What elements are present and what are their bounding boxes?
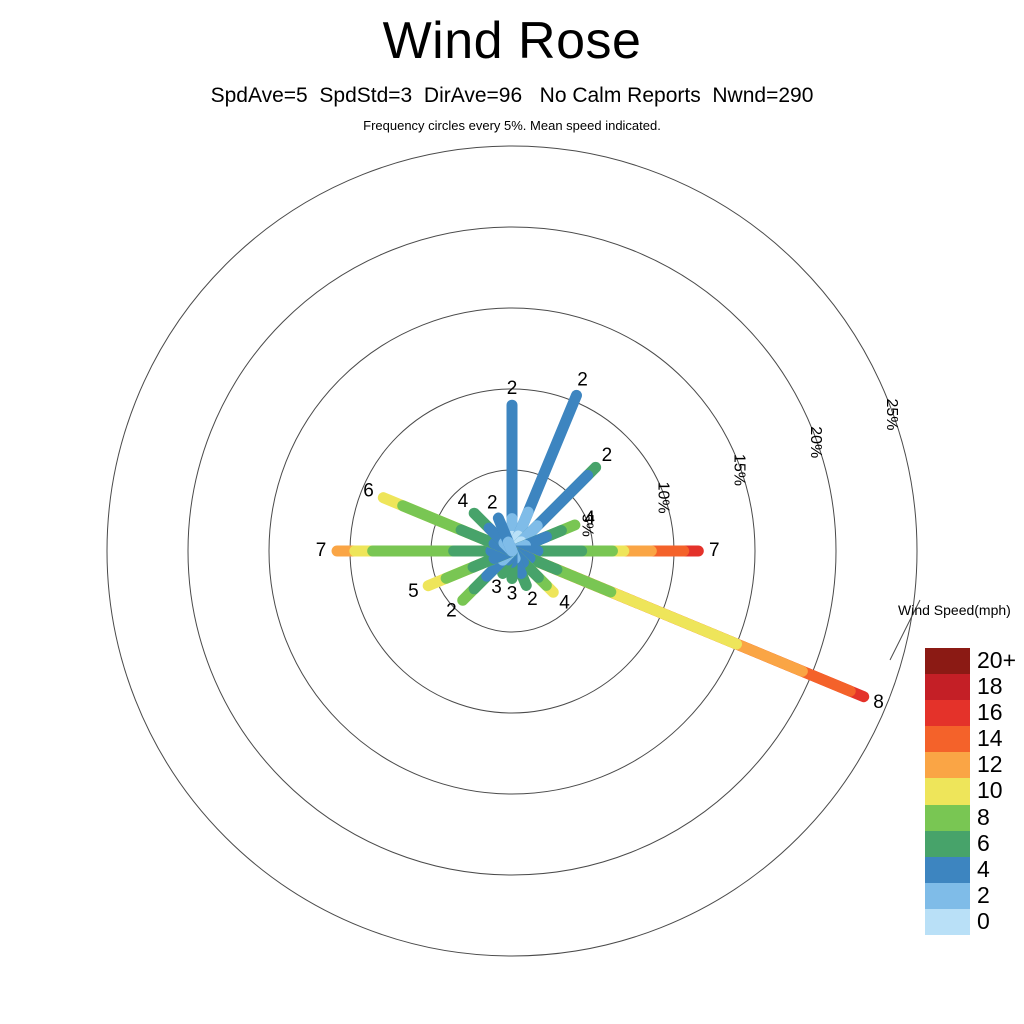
petal-mean-speed-label: 4 bbox=[584, 508, 595, 529]
legend-row: 20+ bbox=[925, 648, 970, 674]
petal-mean-speed-label: 4 bbox=[458, 491, 469, 512]
legend-swatch bbox=[925, 674, 970, 700]
petal-mean-speed-label: 2 bbox=[446, 601, 457, 622]
radial-tick-label: 25% bbox=[883, 399, 900, 431]
petal-mean-speed-label: 3 bbox=[491, 577, 502, 598]
legend-swatch bbox=[925, 700, 970, 726]
petal-mean-speed-label: 8 bbox=[873, 692, 884, 713]
legend-swatch bbox=[925, 778, 970, 804]
legend-swatch bbox=[925, 752, 970, 778]
petal-mean-speed-label: 2 bbox=[507, 378, 518, 399]
legend-row: 14 bbox=[925, 726, 970, 752]
legend-row: 16 bbox=[925, 700, 970, 726]
legend-row: 2 bbox=[925, 883, 970, 909]
legend-label: 20+ bbox=[977, 646, 1016, 674]
petals-group bbox=[337, 395, 864, 696]
petal-mean-speed-label: 4 bbox=[559, 593, 570, 614]
legend-swatch bbox=[925, 726, 970, 752]
legend-label: 16 bbox=[977, 698, 1003, 726]
legend-title: Wind Speed(mph) bbox=[898, 602, 1011, 618]
legend-swatch bbox=[925, 909, 970, 935]
petal-mean-speed-label: 7 bbox=[316, 540, 327, 561]
petal-segment bbox=[508, 542, 512, 551]
legend-swatch bbox=[925, 857, 970, 883]
radial-tick-label: 15% bbox=[731, 454, 748, 486]
legend-label: 4 bbox=[977, 855, 990, 883]
legend-row: 0 bbox=[925, 909, 970, 935]
wind-speed-legend: 20+181614121086420 bbox=[925, 648, 970, 935]
ring-labels: 5%10%15%20%25% bbox=[578, 399, 899, 537]
radial-tick-label: 20% bbox=[807, 426, 824, 458]
legend-swatch bbox=[925, 648, 970, 674]
legend-label: 6 bbox=[977, 829, 990, 857]
legend-row: 6 bbox=[925, 831, 970, 857]
petal-mean-speed-label: 2 bbox=[577, 370, 588, 391]
legend-label: 18 bbox=[977, 672, 1003, 700]
legend-label: 2 bbox=[977, 881, 990, 909]
legend-label: 8 bbox=[977, 803, 990, 831]
legend-row: 18 bbox=[925, 674, 970, 700]
wind-rose-plot: 5%10%15%20%25% 2224784233257642 bbox=[0, 0, 1024, 1024]
legend-label: 10 bbox=[977, 776, 1003, 804]
petal-mean-speed-labels: 2224784233257642 bbox=[316, 370, 884, 713]
legend-label: 12 bbox=[977, 750, 1003, 778]
legend-row: 12 bbox=[925, 752, 970, 778]
legend-row: 8 bbox=[925, 805, 970, 831]
legend-swatch bbox=[925, 831, 970, 857]
legend-row: 4 bbox=[925, 857, 970, 883]
petal-mean-speed-label: 6 bbox=[363, 481, 374, 502]
radial-tick-label: 10% bbox=[655, 482, 672, 514]
legend-swatch bbox=[925, 805, 970, 831]
legend-row: 10 bbox=[925, 778, 970, 804]
legend-label: 0 bbox=[977, 907, 990, 935]
petal-mean-speed-label: 5 bbox=[408, 581, 419, 602]
petal-mean-speed-label: 7 bbox=[709, 540, 720, 561]
legend-label: 14 bbox=[977, 724, 1003, 752]
petal-mean-speed-label: 3 bbox=[507, 584, 518, 605]
legend-swatch bbox=[925, 883, 970, 909]
wind-rose-page: Wind Rose SpdAve=5 SpdStd=3 DirAve=96 No… bbox=[0, 0, 1024, 1024]
petal-mean-speed-label: 2 bbox=[487, 492, 498, 513]
petal-mean-speed-label: 2 bbox=[602, 445, 613, 466]
petal-mean-speed-label: 2 bbox=[527, 589, 538, 610]
